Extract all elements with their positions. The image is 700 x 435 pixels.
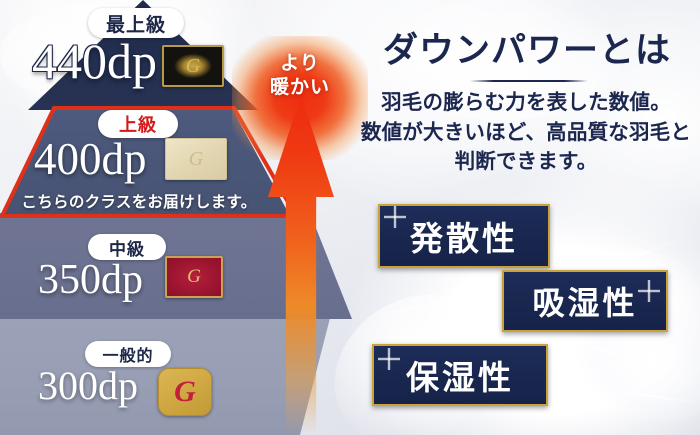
page-title: ダウンパワーとは [358,22,696,73]
tier-value-350: 350dp [38,259,143,301]
delivery-note: こちらのクラスをお届けします。 [10,190,268,212]
feature-badge-kyushitsusei: 吸湿性 [502,270,668,332]
gold-black-label-emblem-icon [162,45,224,87]
tier-value-300: 300dp [38,366,138,406]
warmth-label: より 暖かい [248,52,352,100]
description-text: 羽毛の膨らむ力を表した数値。 数値が大きいほど、高品質な羽毛と 判断できます。 [352,88,700,177]
description-line: 判断できます。 [352,147,700,177]
tier-value-400: 400dp [34,137,147,182]
description-line: 羽毛の膨らむ力を表した数値。 [352,88,700,118]
gold-swan-logo-emblem-icon [158,368,212,416]
feature-badge-hoshitsusei: 保湿性 [372,344,548,406]
tier-value-440: 440dp [32,36,157,86]
warmth-label-line2: 暖かい [248,76,352,100]
feature-badge-hassansei: 発散性 [378,204,550,268]
title-divider [470,80,588,82]
red-gold-label-emblem-icon [165,256,223,298]
cream-gold-label-emblem-icon [165,138,227,180]
description-line: 数値が大きいほど、高品質な羽毛と [352,118,700,148]
infographic-root: 最上級 440dp 上級 400dp こちらのクラスをお届けします。 中級 35… [0,0,700,435]
warmth-label-line1: より [248,52,352,76]
